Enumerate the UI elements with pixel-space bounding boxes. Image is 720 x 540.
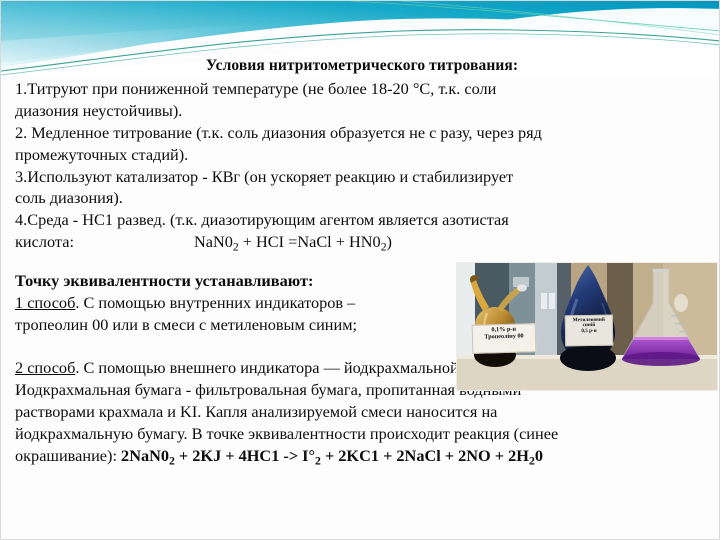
bottle1-label-line2: Тропеоліну 00 — [473, 333, 535, 341]
method-1-marker: 1 способ — [15, 293, 75, 312]
acid-eq-part1: NaN0 — [194, 232, 233, 251]
final-eq-a: 2NaN0 — [121, 446, 169, 465]
bottle-label-tropeolin: 0,1% р-н Тропеоліну 00 — [472, 323, 537, 354]
final-eq-b: + 2KJ + 4HC1 -> I° — [175, 446, 315, 465]
equivalence-subheading: Точку эквивалентности устанавливают: — [15, 270, 467, 292]
final-equation: 2NaN02 + 2KJ + 4HC1 -> I°2 + 2KC1 + 2NaC… — [121, 446, 543, 465]
condition-3-line2: соль диазония). — [15, 187, 709, 209]
bottle2-label-line3: 0,5 р-н — [566, 329, 612, 335]
condition-2-line2: промежуточных стадий). — [15, 144, 709, 166]
acid-eq-part2: + HCI =NaCl + HN0 — [239, 232, 381, 251]
acid-label: кислота: — [15, 232, 74, 251]
condition-1-line2: диазония неустойчивы). — [15, 100, 709, 122]
method-1-line1: 1 способ. С помощью внутренних индикатор… — [15, 292, 467, 314]
method-2-line4: йодкрахмальную бумагу. В точке эквивален… — [15, 423, 709, 445]
slide-canvas: 0,1% р-н Тропеоліну 00 Метиленовий синій… — [0, 0, 720, 540]
method-1-line2: тропеолин 00 или в смеси с метиленовым с… — [15, 314, 467, 336]
slide-title: Условия нитритометрического титрования: — [15, 57, 709, 76]
condition-3-line1: 3.Используют катализатор - КВг (он ускор… — [15, 166, 709, 188]
condition-4-line1: 4.Среда - НС1 развед. (т.к. диазотирующи… — [15, 209, 709, 231]
slide-title-colon: : — [513, 57, 518, 74]
condition-1-line1: 1.Титруют при пониженной температуре (не… — [15, 78, 709, 100]
final-equation-row: окрашивание): 2NaN02 + 2KJ + 4HC1 -> I°2… — [15, 445, 709, 469]
acid-equation-row: кислота:NaN02 + HCI =NaCl + HN02) — [15, 231, 709, 255]
condition-2-line1: 2. Медленное титрование (т.к. соль диазо… — [15, 122, 709, 144]
method-2-line1-rest: . С помощью внешнего индикатора — йодкра… — [75, 358, 515, 377]
bottle-label-methylene-blue: Метиленовий синій 0,5 р-н — [565, 315, 614, 347]
slide-title-text: Условия нитритометрического титрования — [206, 57, 513, 74]
acid-eq-part3: ) — [387, 232, 392, 251]
final-eq-d: 0 — [535, 446, 543, 465]
lab-flasks-photo: 0,1% р-н Тропеоліну 00 Метиленовий синій… — [456, 262, 718, 391]
final-eq-prefix: окрашивание): — [15, 446, 121, 465]
method-2-marker: 2 способ — [15, 358, 75, 377]
method-1-line1-rest: . С помощью внутренних индикаторов – — [75, 293, 355, 312]
method-2-line3: растворами крахмала и KI. Капля анализир… — [15, 401, 709, 423]
final-eq-c: + 2KC1 + 2NaCl + 2NO + 2H — [321, 446, 529, 465]
